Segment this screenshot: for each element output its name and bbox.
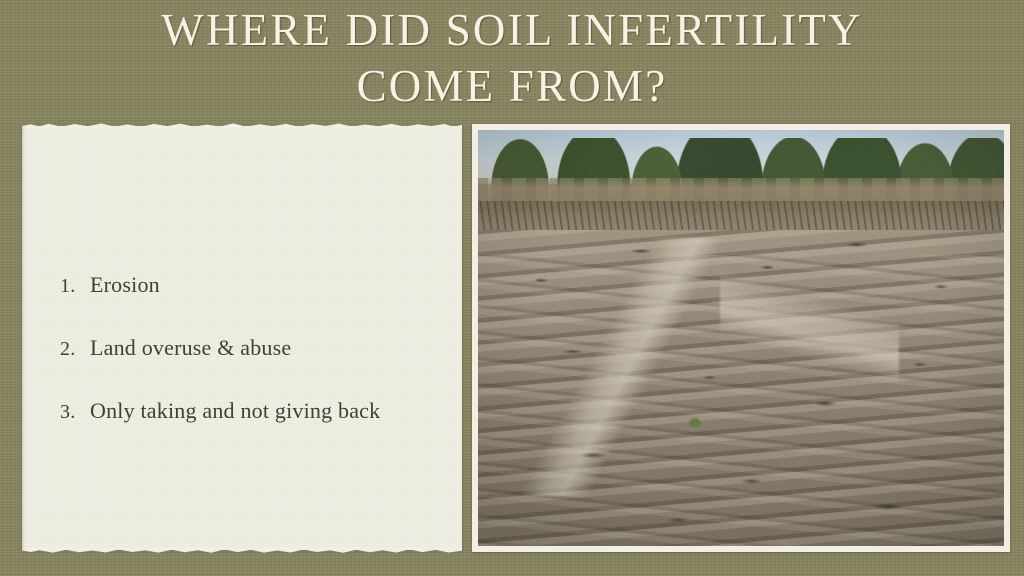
photo-frame bbox=[472, 124, 1010, 552]
list-item: 3. Only taking and not giving back bbox=[60, 398, 460, 425]
page-title: Where did soil infertility come from? bbox=[0, 2, 1024, 114]
list-item: 2. Land overuse & abuse bbox=[60, 335, 460, 362]
slide: Where did soil infertility come from? 1.… bbox=[0, 0, 1024, 576]
list-item-label: Only taking and not giving back bbox=[90, 398, 380, 424]
list-item-label: Erosion bbox=[90, 272, 160, 298]
list-item-number: 1. bbox=[60, 273, 90, 299]
list-item-number: 3. bbox=[60, 399, 90, 425]
numbered-list: 1. Erosion 2. Land overuse & abuse 3. On… bbox=[60, 272, 460, 425]
photo-soil-clods bbox=[478, 222, 1004, 546]
list-item-label: Land overuse & abuse bbox=[90, 335, 291, 361]
list-item: 1. Erosion bbox=[60, 272, 460, 299]
list-item-number: 2. bbox=[60, 336, 90, 362]
eroded-field-photo bbox=[478, 130, 1004, 546]
photo-green-sprout bbox=[688, 417, 702, 427]
